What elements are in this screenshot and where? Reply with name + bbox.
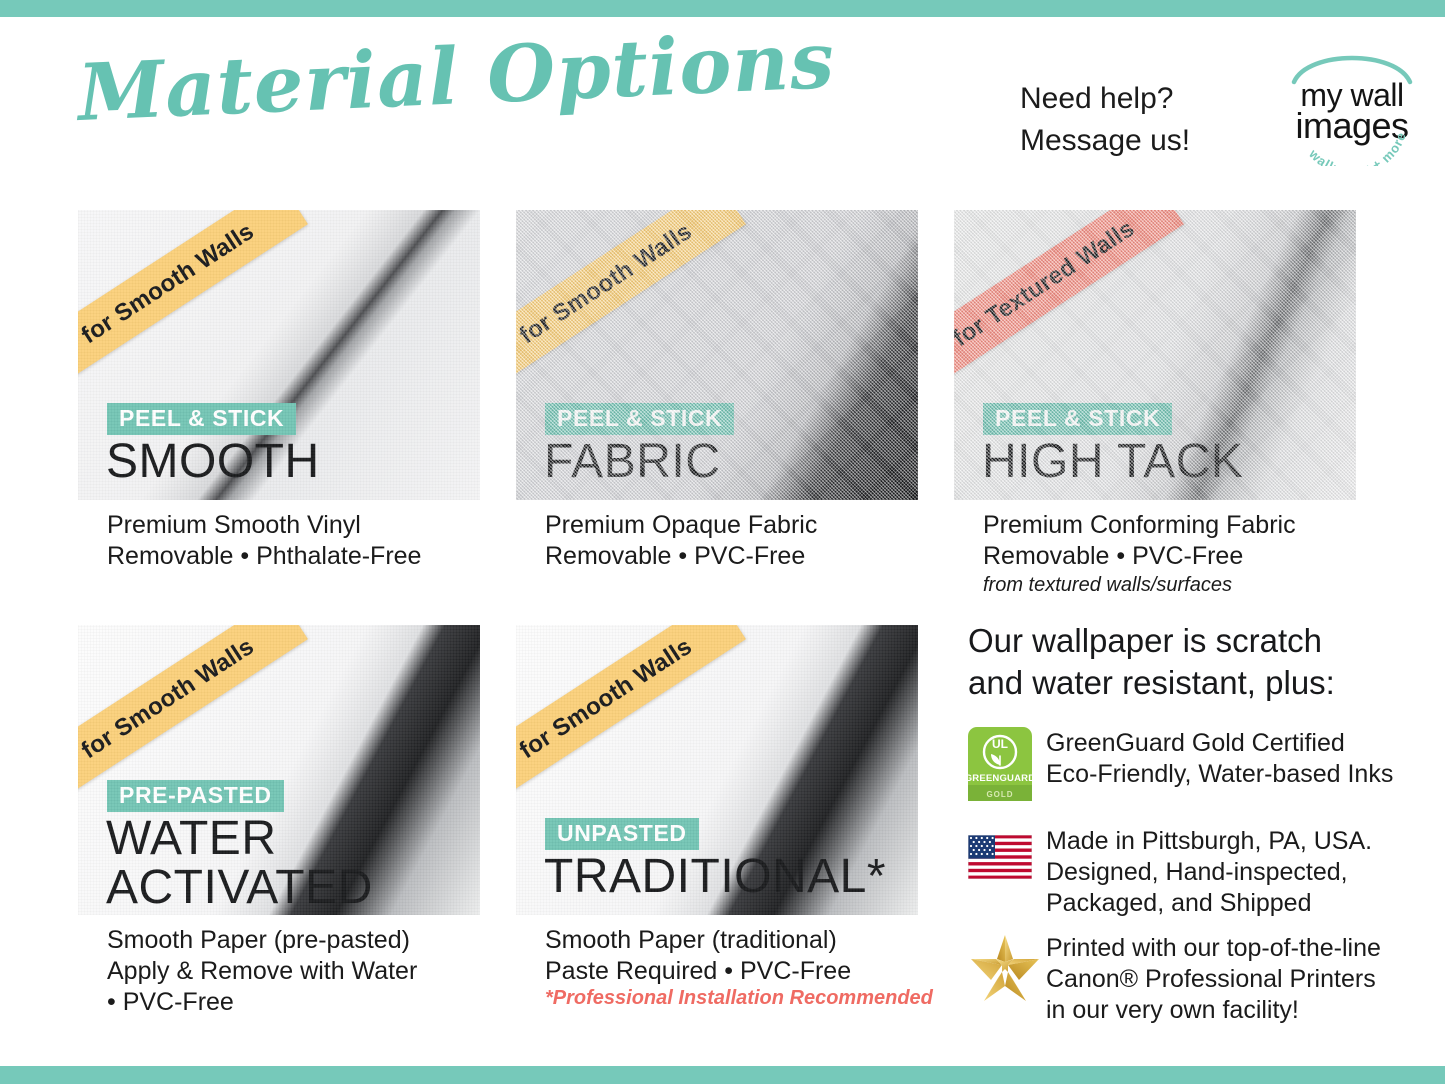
material-thumbnail-smooth: for Smooth Walls PEEL & STICK SMOOTH — [78, 210, 480, 500]
feature-canon-printers: Printed with our top-of-the-line Canon® … — [968, 932, 1381, 1026]
material-caption-smooth: Premium Smooth Vinyl Removable • Phthala… — [107, 510, 421, 572]
material-thumbnail-traditional: for Smooth Walls UNPASTED TRADITIONAL* — [516, 625, 918, 915]
bottom-accent-bar — [0, 1066, 1445, 1084]
need-help-block: Need help? Message us! — [1020, 78, 1190, 162]
material-caption-fabric: Premium Opaque Fabric Removable • PVC-Fr… — [545, 510, 817, 572]
material-footnote-traditional: *Professional Installation Recommended — [545, 986, 933, 1010]
feature-made-in-usa-text: Made in Pittsburgh, PA, USA. Designed, H… — [1046, 825, 1372, 919]
material-name-smooth: SMOOTH — [106, 436, 320, 488]
svg-text:UL: UL — [992, 737, 1008, 751]
badge-peel-and-stick: PEEL & STICK — [107, 403, 296, 435]
us-flag-icon — [968, 825, 1046, 879]
material-name-high-tack: HIGH TACK — [982, 436, 1243, 488]
svg-text:GREENGUARD: GREENGUARD — [968, 773, 1032, 784]
material-card-smooth[interactable]: for Smooth Walls PEEL & STICK SMOOTH Pre… — [78, 210, 480, 500]
feature-made-in-usa: Made in Pittsburgh, PA, USA. Designed, H… — [968, 825, 1372, 919]
material-card-fabric[interactable]: for Smooth Walls PEEL & STICK FABRIC Pre… — [516, 210, 918, 500]
ribbon-for-textured-walls: for Textured Walls — [954, 210, 1184, 388]
ribbon-for-smooth-walls: for Smooth Walls — [516, 625, 746, 803]
badge-peel-and-stick: PEEL & STICK — [545, 403, 734, 435]
badge-pre-pasted: PRE-PASTED — [107, 780, 284, 812]
badge-unpasted: UNPASTED — [545, 818, 699, 850]
material-options-infographic: Material Options Need help? Message us! … — [0, 0, 1445, 1084]
ribbon-for-smooth-walls: for Smooth Walls — [78, 210, 308, 388]
material-name-water-activated-line-2: ACTIVATED — [106, 862, 373, 914]
material-thumbnail-fabric: for Smooth Walls PEEL & STICK FABRIC — [516, 210, 918, 500]
feature-greenguard-text: GreenGuard Gold Certified Eco-Friendly, … — [1046, 727, 1393, 790]
material-caption-high-tack: Premium Conforming Fabric Removable • PV… — [983, 510, 1296, 572]
need-help-line-2: Message us! — [1020, 120, 1190, 162]
material-caption-water-activated: Smooth Paper (pre-pasted) Apply & Remove… — [107, 925, 417, 1018]
material-footnote-high-tack: from textured walls/surfaces — [983, 573, 1232, 597]
feature-greenguard: UL GREENGUARD GOLD GreenGuard Gold Certi… — [968, 727, 1393, 801]
material-card-water-activated[interactable]: for Smooth Walls PRE-PASTED WATER ACTIVA… — [78, 625, 480, 915]
material-card-traditional[interactable]: for Smooth Walls UNPASTED TRADITIONAL* S… — [516, 625, 918, 915]
material-card-high-tack[interactable]: for Textured Walls PEEL & STICK HIGH TAC… — [954, 210, 1356, 500]
badge-peel-and-stick: PEEL & STICK — [983, 403, 1172, 435]
ribbon-for-smooth-walls: for Smooth Walls — [516, 210, 746, 388]
need-help-line-1: Need help? — [1020, 78, 1190, 120]
material-name-traditional: TRADITIONAL* — [544, 851, 886, 903]
material-thumbnail-water-activated: for Smooth Walls PRE-PASTED WATER ACTIVA… — [78, 625, 480, 915]
top-accent-bar — [0, 0, 1445, 17]
material-name-water-activated-line-1: WATER — [106, 813, 276, 865]
info-heading: Our wallpaper is scratch and water resis… — [968, 620, 1335, 704]
svg-text:GOLD: GOLD — [986, 790, 1013, 799]
feature-canon-printers-text: Printed with our top-of-the-line Canon® … — [1046, 932, 1381, 1026]
material-caption-traditional: Smooth Paper (traditional) Paste Require… — [545, 925, 851, 987]
gold-star-icon — [968, 932, 1046, 1004]
material-thumbnail-high-tack: for Textured Walls PEEL & STICK HIGH TAC… — [954, 210, 1356, 500]
material-name-fabric: FABRIC — [544, 436, 720, 488]
page-title: Material Options — [76, 15, 837, 139]
brand-logo: my wall images wallpaper + more — [1278, 38, 1426, 166]
greenguard-gold-badge-icon: UL GREENGUARD GOLD — [968, 727, 1046, 801]
ribbon-for-smooth-walls: for Smooth Walls — [78, 625, 308, 803]
